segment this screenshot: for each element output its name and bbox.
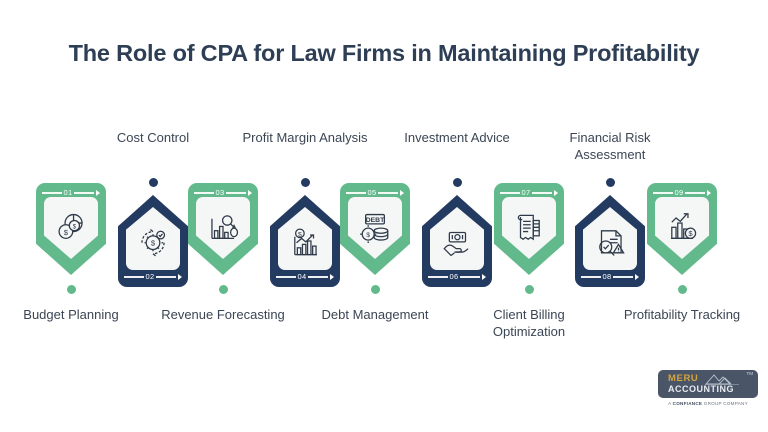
step-04-connector-dot [301, 178, 310, 187]
step-09-hexagon[interactable]: $ 09 [647, 183, 717, 275]
document-magnifier-warning-icon [593, 226, 627, 260]
step-08-number-band: 08 [581, 271, 639, 283]
mountain-icon [705, 372, 739, 384]
band-line-right [613, 276, 633, 277]
step-05-hexagon[interactable]: DEBT $ 05 [340, 183, 410, 275]
step-02-number-band: 02 [124, 271, 182, 283]
process-steps-strip: Budget Planning $ $ 01 [0, 120, 768, 355]
band-line-right [378, 192, 398, 193]
band-line-left [346, 192, 366, 193]
step-01[interactable]: Budget Planning $ $ 01 [28, 120, 114, 355]
step-03[interactable]: Revenue Forecasting 03 [180, 120, 266, 355]
band-line-left [581, 276, 601, 277]
step-03-hexagon[interactable]: 03 [188, 183, 258, 275]
step-01-number: 01 [64, 189, 73, 197]
tagline-brand: CONFIANCE [673, 401, 703, 406]
step-07-hexagon[interactable]: 07 [494, 183, 564, 275]
step-01-number-band: 01 [42, 187, 100, 199]
step-03-number: 03 [216, 189, 225, 197]
step-06-number: 06 [450, 273, 459, 281]
band-line-right [460, 276, 480, 277]
trademark-mark: TM [747, 372, 754, 377]
step-04-number: 04 [298, 273, 307, 281]
step-09-number: 09 [675, 189, 684, 197]
step-03-connector-dot [219, 285, 228, 294]
pie-chart-coins-icon: $ $ [54, 210, 88, 244]
band-line-right [532, 192, 552, 193]
step-07-number: 07 [522, 189, 531, 197]
band-line-left [276, 276, 296, 277]
hand-holding-money-icon [440, 226, 474, 260]
band-line-left [428, 276, 448, 277]
step-06-number-band: 06 [428, 271, 486, 283]
gear-dollar-cycle-icon: $ [136, 226, 170, 260]
band-line-right [226, 192, 246, 193]
band-line-right [685, 192, 705, 193]
arrow-right-icon [707, 190, 711, 196]
band-line-right [74, 192, 94, 193]
arrow-right-icon [96, 190, 100, 196]
step-04-hexagon[interactable]: $ 04 [270, 195, 340, 287]
arrow-right-icon [400, 190, 404, 196]
band-line-left [124, 276, 144, 277]
logo-name-bottom: ACCOUNTING [668, 385, 734, 394]
band-line-right [156, 276, 176, 277]
logo-name-top: MERU [668, 374, 698, 384]
svg-text:DEBT: DEBT [366, 217, 385, 224]
band-line-left [653, 192, 673, 193]
band-line-left [194, 192, 214, 193]
band-line-right [308, 276, 328, 277]
step-09-label: Profitability Tracking [617, 307, 747, 324]
tagline-suffix: GROUP COMPANY [702, 401, 748, 406]
debt-coins-gear-icon: DEBT $ [358, 210, 392, 244]
band-line-left [42, 192, 62, 193]
svg-text:$: $ [151, 239, 156, 248]
svg-text:$: $ [366, 232, 370, 239]
step-04-number-band: 04 [276, 271, 334, 283]
step-02-connector-dot [149, 178, 158, 187]
step-09[interactable]: Profitability Tracking $ 09 [639, 120, 725, 355]
invoice-document-icon [512, 210, 546, 244]
step-01-connector-dot [67, 285, 76, 294]
arrow-right-icon [248, 190, 252, 196]
step-07-connector-dot [525, 285, 534, 294]
band-line-left [500, 192, 520, 193]
growth-chart-dollar-icon: $ [288, 226, 322, 260]
step-05-number-band: 05 [346, 187, 404, 199]
step-02-hexagon[interactable]: $ 02 [118, 195, 188, 287]
logo-tagline: A CONFIANCE GROUP COMPANY [658, 401, 758, 406]
step-01-hexagon[interactable]: $ $ 01 [36, 183, 106, 275]
page-title: The Role of CPA for Law Firms in Maintai… [0, 40, 768, 67]
arrow-right-icon [554, 190, 558, 196]
step-05-connector-dot [371, 285, 380, 294]
brand-logo[interactable]: MERU ACCOUNTING TM A CONFIANCE GROUP COM… [658, 370, 758, 406]
step-08-number: 08 [603, 273, 612, 281]
step-08-connector-dot [606, 178, 615, 187]
step-02-number: 02 [146, 273, 155, 281]
bar-chart-magnifier-money-bag-icon [206, 210, 240, 244]
bar-chart-arrow-dollar-icon: $ [665, 210, 699, 244]
step-06-connector-dot [453, 178, 462, 187]
step-05-number: 05 [368, 189, 377, 197]
step-09-number-band: 09 [653, 187, 711, 199]
svg-text:$: $ [64, 228, 69, 237]
step-07-number-band: 07 [500, 187, 558, 199]
step-03-number-band: 03 [194, 187, 252, 199]
step-08-hexagon[interactable]: 08 [575, 195, 645, 287]
step-09-connector-dot [678, 285, 687, 294]
logo-plate: MERU ACCOUNTING TM [658, 370, 758, 398]
svg-text:$: $ [298, 231, 302, 238]
step-05[interactable]: Debt Management DEBT $ 05 [332, 120, 418, 355]
step-06-hexagon[interactable]: 06 [422, 195, 492, 287]
